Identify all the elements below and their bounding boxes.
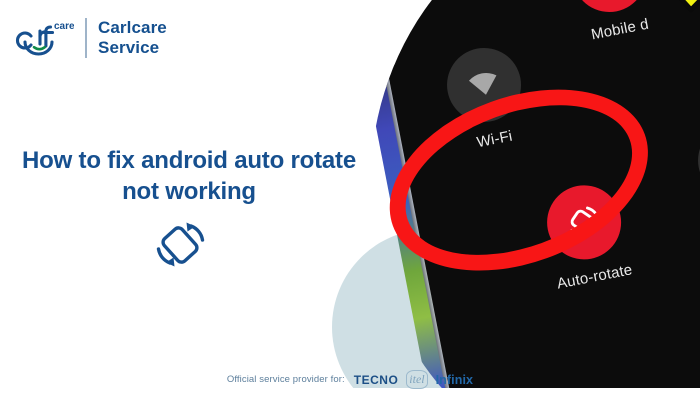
page-title-line2: not working	[0, 177, 378, 208]
brand-name-line1: Carlcare	[98, 18, 167, 38]
infinix-logo: Infinix	[436, 373, 474, 387]
itel-logo: itel	[407, 372, 426, 387]
quick-tile-flashlight-label: Flashlight	[687, 196, 700, 235]
auto-rotate-icon	[150, 218, 212, 270]
page-title: How to fix android auto rotate not worki…	[0, 146, 378, 207]
carlcare-logo-icon: care	[14, 16, 74, 60]
brand-name: Carlcare Service	[98, 18, 167, 57]
brand-divider	[85, 18, 87, 58]
phone-quick-settings-photo: Wi-Fi Mobile d	[370, 0, 700, 401]
page-title-line1: How to fix android auto rotate	[0, 146, 378, 177]
svg-text:care: care	[54, 21, 74, 32]
brand-name-line2: Service	[98, 38, 167, 58]
flashlight-icon	[692, 117, 700, 204]
footer-partners: Official service provider for: TECNO ite…	[0, 372, 700, 387]
slide-canvas: care Carlcare Service How to fix android…	[0, 0, 700, 401]
footer-lead-text: Official service provider for:	[227, 374, 345, 385]
brand-lockup: care Carlcare Service	[14, 10, 167, 66]
bottom-mask	[0, 388, 700, 401]
tecno-logo: TECNO	[354, 373, 399, 387]
